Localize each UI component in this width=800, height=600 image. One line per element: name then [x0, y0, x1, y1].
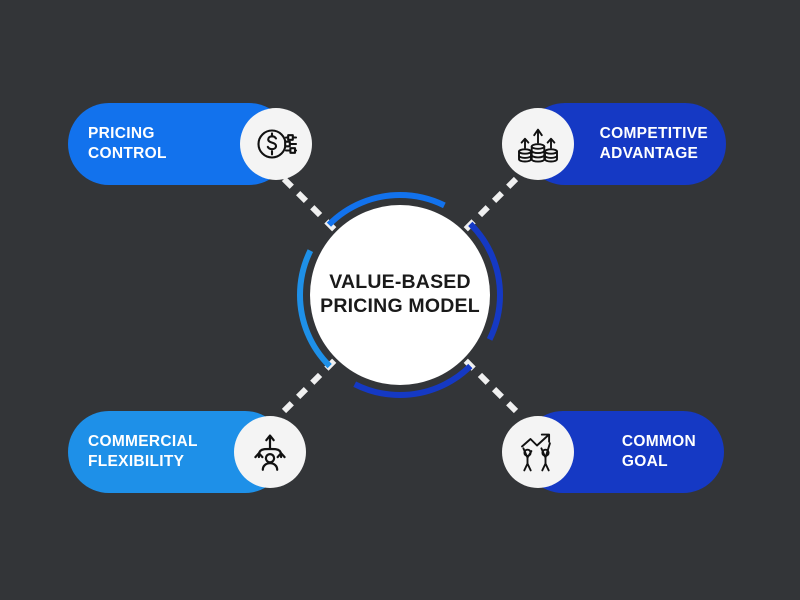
node-pricing-control[interactable]: PRICING CONTROL: [68, 103, 290, 185]
node-label-competitive-advantage: COMPETITIVE ADVANTAGE: [600, 124, 708, 164]
node-label-common-goal: COMMON GOAL: [622, 432, 696, 472]
node-commercial-flexibility[interactable]: COMMERCIAL FLEXIBILITY: [68, 411, 286, 493]
center-node: VALUE-BASED PRICING MODEL: [296, 191, 504, 399]
center-disc: VALUE-BASED PRICING MODEL: [310, 205, 490, 385]
node-competitive-advantage[interactable]: COMPETITIVE ADVANTAGE: [524, 103, 726, 185]
dollar-control-icon: [240, 108, 312, 180]
value-based-pricing-model-diagram: VALUE-BASED PRICING MODEL PRICING CONTRO…: [0, 0, 800, 600]
node-label-pricing-control: PRICING CONTROL: [88, 124, 167, 164]
two-people-rising-arrow-icon: [502, 416, 574, 488]
center-title: VALUE-BASED PRICING MODEL: [320, 271, 480, 319]
coin-stacks-up-arrows-icon: [502, 108, 574, 180]
person-branching-arrows-icon: [234, 416, 306, 488]
node-common-goal[interactable]: COMMON GOAL: [522, 411, 724, 493]
node-label-commercial-flexibility: COMMERCIAL FLEXIBILITY: [88, 432, 198, 472]
